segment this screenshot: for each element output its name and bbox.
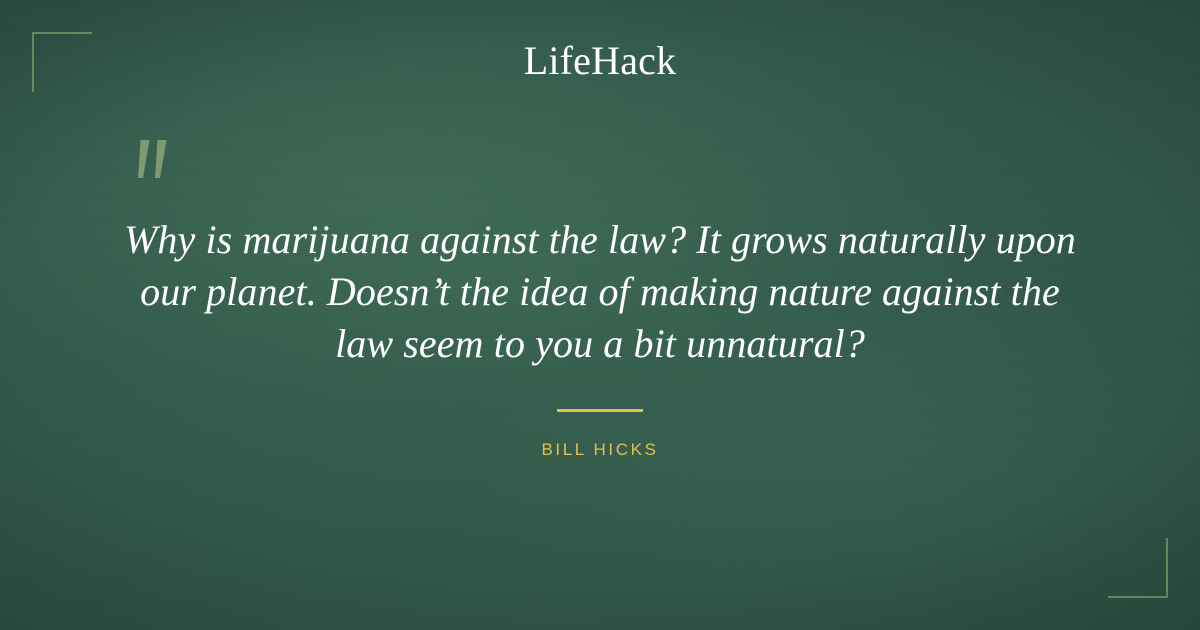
quote-line-2: our planet. Doesn’t the idea of making n… [95, 266, 1105, 318]
lifehack-logo: LifeHack [0, 38, 1200, 84]
double-quote-icon [128, 138, 188, 194]
gold-divider [557, 409, 643, 412]
quote-card: LifeHack Why is marijuana against the la… [0, 0, 1200, 630]
quote-line-3: law seem to you a bit unnatural? [95, 318, 1105, 370]
quote-author: BILL HICKS [0, 440, 1200, 460]
quote-line-1: Why is marijuana against the law? It gro… [95, 214, 1105, 266]
quote-text-block: Why is marijuana against the law? It gro… [95, 214, 1105, 370]
divider-container [0, 409, 1200, 412]
